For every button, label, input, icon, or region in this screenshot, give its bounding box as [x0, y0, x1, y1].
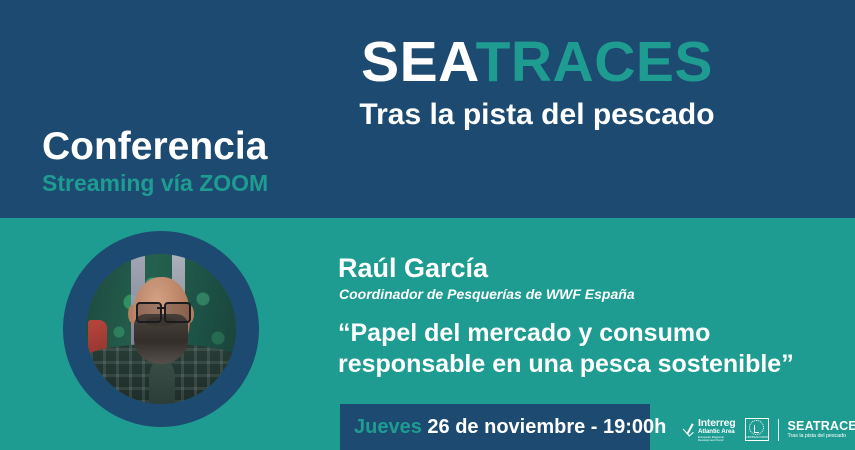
interreg-logo: Interreg Atlantic Area European Regional…	[684, 418, 739, 442]
event-channel-label: Streaming vía ZOOM	[42, 170, 268, 197]
photo-glasses-right-lens	[164, 302, 191, 323]
seatraces-logo-tagline: Tras la pista del pescado	[788, 434, 846, 439]
seatraces-logo: SEATRACES Tras la pista del pescado	[788, 420, 855, 439]
event-type-block: Conferencia Streaming vía ZOOM	[42, 126, 268, 197]
logo-divider	[778, 419, 779, 441]
eu-caption: EUROPEAN UNION	[745, 436, 769, 439]
check-icon	[684, 423, 695, 437]
photo-glasses-bridge	[157, 307, 165, 309]
brand-title: SEATRACES	[337, 33, 737, 91]
interreg-wordmark: Interreg Atlantic Area European Regional…	[698, 418, 739, 442]
schedule-weekday: Jueves	[354, 416, 422, 438]
speaker-name: Raúl García	[338, 253, 488, 284]
speaker-role: Coordinador de Pesquerías de WWF España	[339, 286, 635, 302]
photo-shirt-opening	[149, 359, 175, 404]
schedule-bar: Jueves 26 de noviembre - 19:00h	[340, 404, 650, 450]
brand-title-sea: SEA	[361, 30, 475, 94]
conference-poster: SEATRACES Tras la pista del pescado Conf…	[0, 0, 855, 450]
interreg-region: Atlantic Area	[698, 429, 735, 435]
schedule-text: Jueves 26 de noviembre - 19:00h	[340, 416, 666, 439]
photo-glasses-left-lens	[136, 302, 163, 323]
schedule-date-time: 26 de noviembre - 19:00h	[427, 416, 666, 438]
brand-title-traces: TRACES	[476, 30, 713, 94]
interreg-name: Interreg	[698, 418, 736, 429]
interreg-fund-line: European Regional Development Fund	[698, 436, 739, 442]
brand-block: SEATRACES Tras la pista del pescado	[337, 33, 737, 132]
talk-title: “Papel del mercado y consumo responsable…	[338, 318, 853, 379]
eu-stars-ring	[749, 420, 764, 435]
eu-emblem-icon: EUROPEAN UNION	[745, 418, 769, 441]
brand-tagline: Tras la pista del pescado	[337, 98, 737, 132]
event-type-label: Conferencia	[42, 126, 268, 168]
seatraces-logo-name: SEATRACES	[788, 420, 855, 433]
avatar	[86, 254, 236, 404]
logo-strip: Interreg Atlantic Area European Regional…	[684, 418, 855, 442]
